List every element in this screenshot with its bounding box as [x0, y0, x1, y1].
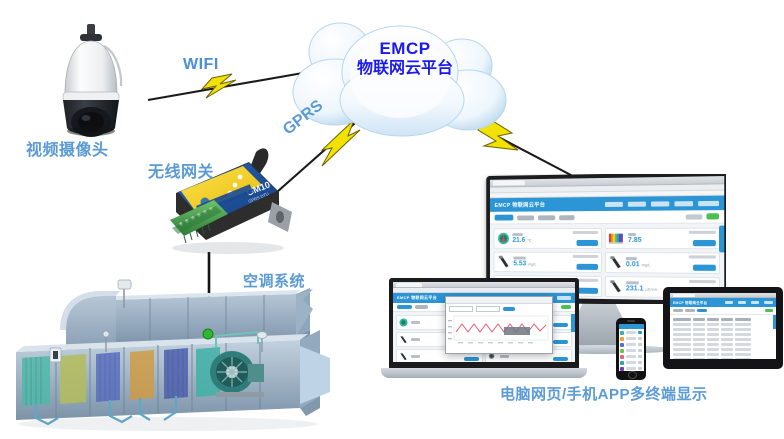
card-value: 0.01 — [626, 261, 640, 268]
card-value: 231.1 — [626, 285, 644, 292]
card-unit: ℃ — [527, 238, 531, 243]
card-ph[interactable]: 7.85 — [605, 228, 720, 250]
line-chart-icon — [446, 314, 552, 348]
card-timestamp — [689, 280, 716, 283]
browser-chrome — [393, 282, 575, 288]
app-nav[interactable] — [605, 200, 719, 206]
thermometer-gauge-icon — [497, 232, 509, 245]
laptop-base — [381, 368, 587, 378]
card-timestamp — [689, 255, 716, 258]
history-data-table[interactable] — [670, 315, 776, 359]
card-title — [411, 338, 420, 341]
app-brand: EMCP 物联网云平台 — [397, 295, 437, 301]
hvac-label: 空调系统 — [243, 270, 305, 291]
toolbar-tab-realtime[interactable] — [397, 305, 412, 309]
phone-screen — [619, 324, 644, 371]
probe-sensor-icon — [399, 335, 408, 344]
card-curve-button[interactable] — [553, 323, 568, 327]
table-row[interactable] — [673, 338, 773, 341]
card-curve-button[interactable] — [553, 340, 568, 344]
card-timestamp — [689, 231, 716, 234]
card-curve-button[interactable] — [693, 240, 716, 246]
card-temperature[interactable]: 21.6 ℃ — [494, 228, 602, 249]
mobile-device-list[interactable] — [619, 329, 644, 371]
laptop-screen: EMCP 物联网云平台 — [393, 282, 575, 362]
probe-sensor-icon — [399, 352, 408, 361]
card-ammonia[interactable]: 0.01 mg/L — [605, 252, 720, 274]
card-curve-button[interactable] — [577, 240, 599, 246]
diagram-canvas: EMCP 物联网云平台 视频摄像头 — [0, 0, 784, 439]
thermometer-gauge-icon — [399, 318, 408, 327]
dialog-titlebar — [446, 297, 552, 304]
browser-tab[interactable] — [673, 294, 695, 297]
card-title — [411, 355, 420, 358]
app-brand: EMCP 物联网云平台 — [673, 300, 707, 305]
card-curve-button[interactable] — [577, 288, 599, 294]
table-row[interactable] — [673, 353, 773, 356]
side-tab-button[interactable] — [773, 315, 776, 329]
list-item[interactable] — [620, 331, 642, 335]
card-value: 5.53 — [513, 260, 526, 267]
table-row[interactable] — [673, 323, 773, 326]
tablet: EMCP 物联网云平台 — [663, 287, 783, 369]
card-value: 21.6 — [512, 237, 525, 244]
card-curve-button[interactable] — [693, 265, 716, 271]
list-item[interactable] — [620, 355, 642, 359]
table-row[interactable] — [673, 343, 773, 346]
status-badge — [765, 309, 773, 312]
card-timestamp — [573, 255, 598, 258]
card-title — [513, 256, 525, 259]
phone-earpiece — [627, 320, 635, 322]
laptop: EMCP 物联网云平台 — [389, 278, 579, 370]
toolbar-tab-history[interactable] — [538, 215, 555, 220]
card-title — [628, 233, 636, 236]
probe-sensor-icon — [609, 256, 623, 269]
probe-sensor-icon — [497, 256, 510, 269]
card-curve-button[interactable] — [553, 357, 568, 361]
card-unit: μS/cm — [645, 286, 657, 291]
card-dissolved-oxygen[interactable]: 5.53 mg/L — [494, 252, 602, 273]
side-tab-button[interactable] — [571, 314, 575, 332]
smartphone — [616, 318, 646, 380]
table-row[interactable] — [673, 348, 773, 351]
list-item[interactable] — [620, 361, 642, 365]
toolbar-tab-alarm[interactable] — [559, 215, 574, 220]
app-nav[interactable] — [725, 301, 773, 304]
card-curve-button[interactable] — [577, 264, 599, 270]
card-title — [626, 257, 637, 260]
card-unit: mg/L — [641, 262, 650, 267]
list-item[interactable] — [620, 349, 642, 353]
card-title — [411, 321, 420, 324]
dialog-filter-row[interactable] — [446, 304, 552, 314]
phone-home-button[interactable] — [628, 371, 637, 379]
ph-color-strip-icon — [609, 232, 625, 244]
list-item[interactable] — [620, 367, 642, 371]
card-curve-button[interactable] — [464, 357, 479, 361]
status-badge — [706, 213, 719, 219]
card-value: 7.85 — [628, 237, 642, 244]
toolbar-tab-realtime[interactable] — [495, 215, 514, 221]
list-item[interactable] — [620, 337, 642, 341]
app-header: EMCP 物联网云平台 — [670, 298, 776, 307]
browser-tab[interactable] — [493, 180, 525, 185]
tablet-screen: EMCP 物联网云平台 — [670, 293, 776, 359]
laptop-bezel: EMCP 物联网云平台 — [389, 278, 579, 370]
toolbar-tab-history[interactable] — [415, 305, 428, 309]
card-title — [500, 355, 509, 358]
app-toolbar[interactable] — [490, 210, 724, 224]
tablet-bezel: EMCP 物联网云平台 — [663, 287, 783, 369]
probe-sensor-icon — [609, 280, 623, 293]
history-curve-dialog[interactable] — [445, 296, 553, 354]
browser-tab[interactable] — [396, 283, 422, 287]
phone-bezel — [616, 318, 646, 380]
card-title — [626, 281, 639, 284]
card-title — [512, 233, 522, 236]
browser-chrome — [670, 293, 776, 298]
status-label — [686, 214, 703, 219]
app-toolbar[interactable] — [670, 307, 776, 315]
table-row[interactable] — [673, 328, 773, 331]
table-row[interactable] — [673, 333, 773, 336]
status-badge — [561, 305, 571, 309]
app-brand: EMCP 物联网云平台 — [495, 201, 546, 209]
table-row[interactable] — [673, 358, 773, 359]
list-item[interactable] — [620, 343, 642, 347]
terminals-caption: 电脑网页/手机APP多终端显示 — [500, 383, 708, 404]
toolbar-tab-scada[interactable] — [517, 215, 534, 220]
table-header-row — [673, 318, 773, 321]
card-timestamp — [573, 231, 598, 234]
side-tab-button[interactable] — [719, 226, 724, 253]
card-unit: mg/L — [528, 261, 536, 266]
